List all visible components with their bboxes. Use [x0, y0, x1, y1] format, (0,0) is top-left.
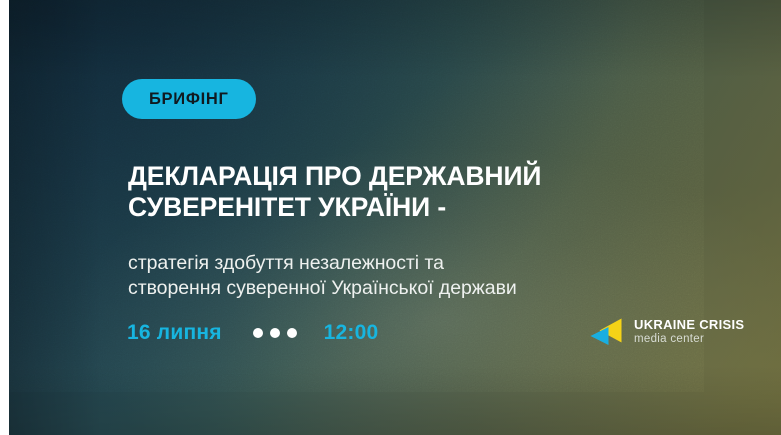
page-title: ДЕКЛАРАЦІЯ ПРО ДЕРЖАВНИЙ СУВЕРЕНІТЕТ УКР…	[128, 161, 728, 223]
event-date: 16 липня	[127, 321, 222, 345]
separator-dot	[270, 328, 280, 338]
logo-name-primary: UKRAINE CRISIS	[634, 318, 744, 331]
logo-wordmark: UKRAINE CRISIS media center	[634, 318, 744, 346]
separator-dot	[253, 328, 263, 338]
event-time: 12:00	[324, 321, 379, 345]
briefing-badge: БРИФІНГ	[122, 79, 256, 119]
dot-separator-icon	[253, 328, 297, 338]
page-subtitle: стратегія здобуття незалежності та створ…	[128, 251, 728, 302]
briefing-poster: БРИФІНГ ДЕКЛАРАЦІЯ ПРО ДЕРЖАВНИЙ СУВЕРЕН…	[9, 0, 781, 435]
event-meta: 16 липня 12:00	[127, 319, 378, 347]
organization-logo: UKRAINE CRISIS media center	[587, 313, 744, 351]
poster-content: БРИФІНГ ДЕКЛАРАЦІЯ ПРО ДЕРЖАВНИЙ СУВЕРЕН…	[9, 0, 781, 435]
logo-name-secondary: media center	[634, 334, 744, 346]
separator-dot	[287, 328, 297, 338]
ukraine-crisis-arrow-icon	[587, 313, 625, 351]
